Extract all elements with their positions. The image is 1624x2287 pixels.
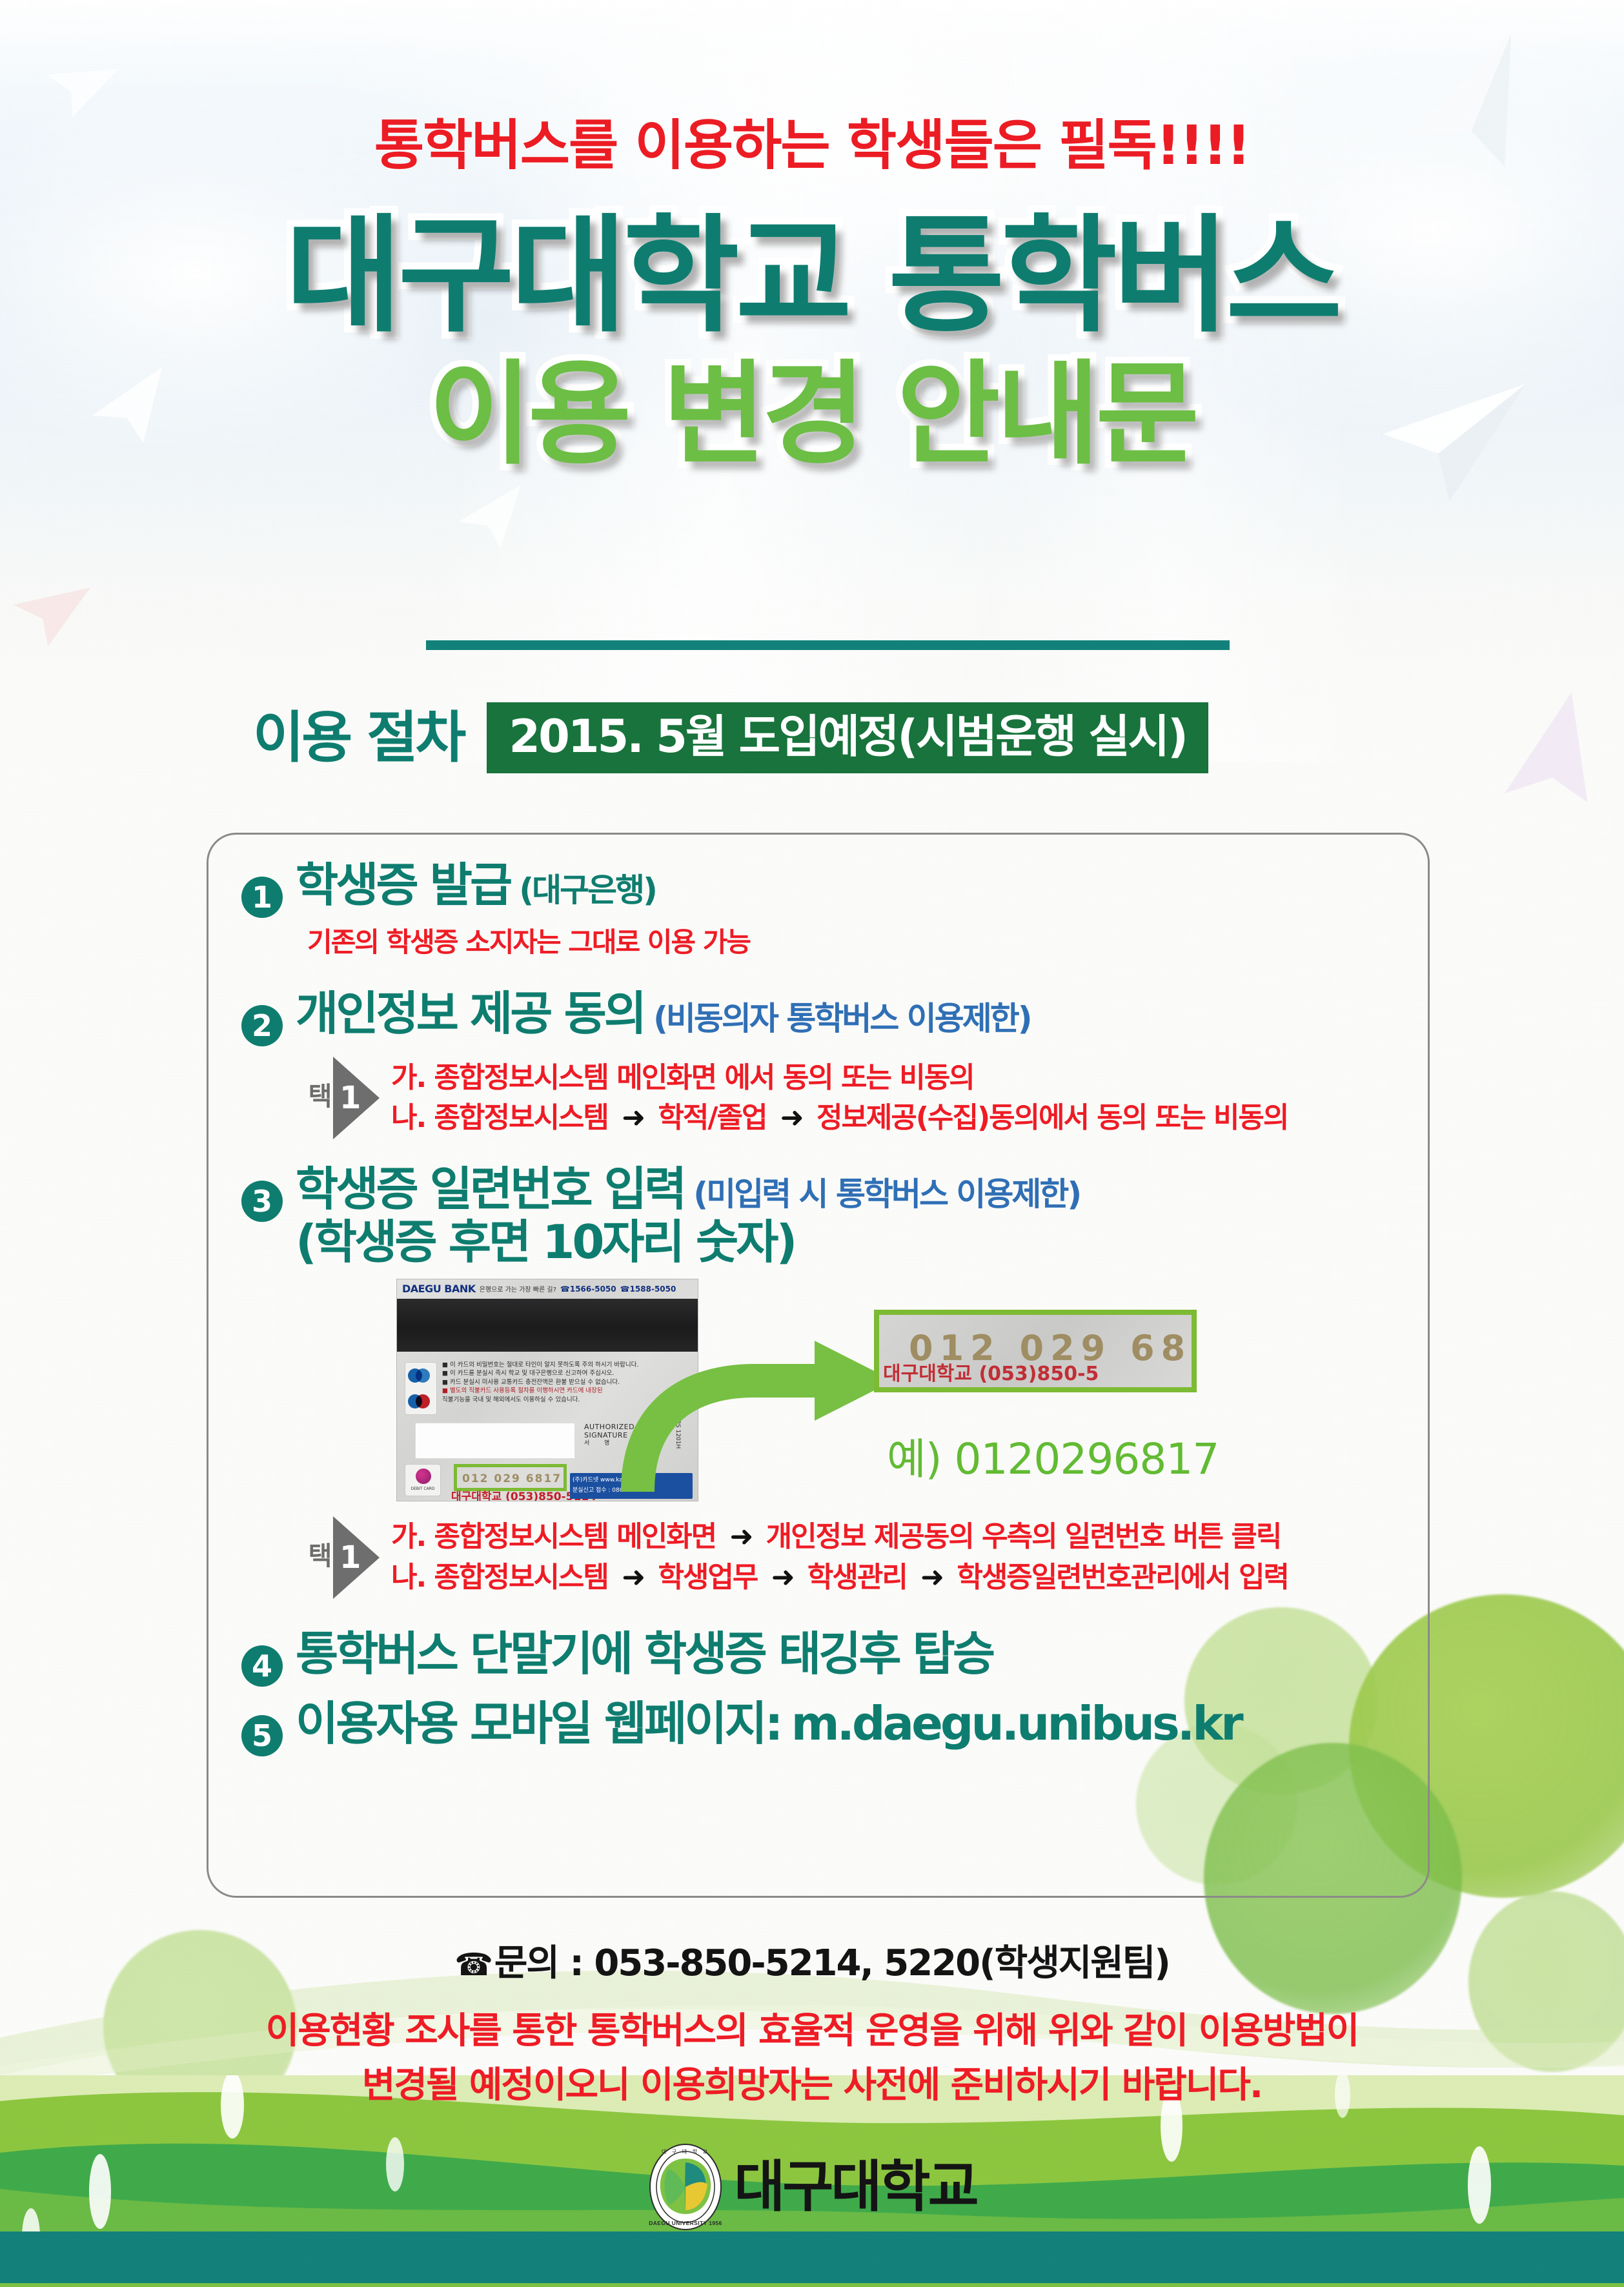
arrow-right-icon: ➜ bbox=[766, 1561, 799, 1594]
step-3-title-second-line: (학생증 후면 10자리 숫자) bbox=[296, 1218, 1395, 1267]
step-1: 1 학생증 발급 (대구은행) 기존의 학생증 소지자는 그대로 이용 가능 bbox=[241, 861, 1395, 960]
step-5-number: 5 bbox=[241, 1715, 283, 1756]
option-line: 나. 종합정보시스템 ➜ 학생업무 ➜ 학생관리 ➜ 학생증일련번호관리에서 입… bbox=[391, 1558, 1395, 1598]
option-prefix: 가. bbox=[391, 1520, 425, 1553]
cirrus-icon bbox=[408, 1366, 434, 1385]
notice-block: 이용현황 조사를 통한 통학버스의 효율적 운영을 위해 위와 같이 이용방법이… bbox=[0, 2004, 1624, 2113]
card-serial-number: 012 029 6817 bbox=[462, 1472, 562, 1485]
option-line: 가. 종합정보시스템 메인화면 ➜ 개인정보 제공동의 우측의 일련번호 버튼 … bbox=[391, 1517, 1395, 1557]
serial-example-text: 예) 0120296817 bbox=[887, 1425, 1219, 1487]
section-header: 이용 절차 2015. 5월 도입예정(시범운행 실시) bbox=[253, 702, 1208, 773]
option-part: 학생관리 bbox=[807, 1561, 907, 1594]
title-divider bbox=[426, 640, 1230, 650]
bank-brand: DAEGU BANK bbox=[402, 1283, 476, 1295]
arrow-right-icon: ➜ bbox=[915, 1561, 948, 1594]
option-part: 개인정보 제공동의 우측의 일련번호 버튼 클릭 bbox=[766, 1520, 1281, 1553]
contact-line: ☎문의 : 053-850-5214, 5220(학생지원팀) bbox=[0, 1934, 1624, 1986]
step-2-option-lines: 가. 종합정보시스템 메인화면 에서 동의 또는 비동의 나. 종합정보시스템 … bbox=[391, 1058, 1395, 1139]
step-1-subnote: 기존의 학생증 소지자는 그대로 이용 가능 bbox=[307, 920, 1395, 960]
kicker-text: 통학버스를 이용하는 학생들은 필독!!!! bbox=[0, 102, 1624, 180]
arrow-right-icon: ➜ bbox=[724, 1520, 757, 1553]
step-2: 2 개인정보 제공 동의 (비동의자 통학버스 이용제한) 택 1 가. 종합정… bbox=[241, 990, 1395, 1139]
step-5: 5 이용자용 모바일 웹페이지: m.daegu.unibus.kr bbox=[241, 1700, 1395, 1750]
step-3: 3 학생증 일련번호 입력 (미입력 시 통학버스 이용제한) (학생증 후면 … bbox=[241, 1165, 1395, 1599]
step-5-title: 이용자용 모바일 웹페이지: bbox=[296, 1700, 781, 1749]
mobile-webpage-url[interactable]: m.daegu.unibus.kr bbox=[791, 1700, 1241, 1749]
step-3-options: 택 1 가. 종합정보시스템 메인화면 ➜ 개인정보 제공동의 우측의 일련번호… bbox=[305, 1516, 1395, 1599]
option-part: 학적/졸업 bbox=[658, 1101, 766, 1134]
poster-root: 통학버스를 이용하는 학생들은 필독!!!! 대구대학교 통학버스 이용 변경 … bbox=[0, 0, 1624, 2287]
option-part: 종합정보시스템 메인화면 에서 동의 또는 비동의 bbox=[434, 1061, 974, 1094]
step-1-number: 1 bbox=[241, 877, 283, 918]
maestro-icon bbox=[408, 1392, 434, 1411]
option-prefix: 나. bbox=[391, 1101, 425, 1134]
steps-list: 1 학생증 발급 (대구은행) 기존의 학생증 소지자는 그대로 이용 가능 2… bbox=[207, 833, 1430, 1778]
svg-text:대 구 대 학 교: 대 구 대 학 교 bbox=[662, 2148, 709, 2155]
option-part: 종합정보시스템 bbox=[434, 1101, 608, 1134]
pick-one-marker: 택 1 bbox=[305, 1057, 382, 1139]
option-part: 정보제공(수집)동의에서 동의 또는 비동의 bbox=[817, 1101, 1288, 1134]
pick-label: 택 bbox=[305, 1542, 330, 1567]
arrow-right-icon: ➜ bbox=[616, 1101, 649, 1134]
step-5-head: 5 이용자용 모바일 웹페이지: m.daegu.unibus.kr bbox=[241, 1700, 1395, 1750]
pick-label: 택 bbox=[305, 1083, 330, 1107]
contact-text: 문의 : 053-850-5214, 5220(학생지원팀) bbox=[494, 1942, 1170, 1984]
debit-card-badge: DEBIT CARD bbox=[405, 1464, 441, 1496]
option-prefix: 나. bbox=[391, 1561, 425, 1594]
arrow-right-icon: ➜ bbox=[616, 1561, 649, 1594]
card-top-strip: DAEGU BANK 은행으로 가는 가장 빠른 길? ☎1566-5050 ☎… bbox=[397, 1279, 698, 1299]
bank-slogan: 은행으로 가는 가장 빠른 길? bbox=[480, 1284, 556, 1294]
step-3-option-lines: 가. 종합정보시스템 메인화면 ➜ 개인정보 제공동의 우측의 일련번호 버튼 … bbox=[391, 1517, 1395, 1598]
step-3-note: (미입력 시 통학버스 이용제한) bbox=[693, 1168, 1080, 1215]
step-2-title: 개인정보 제공 동의 bbox=[296, 990, 644, 1039]
step-4-head: 4 통학버스 단말기에 학생증 태깅후 탑승 bbox=[241, 1630, 1395, 1680]
option-part: 종합정보시스템 bbox=[434, 1561, 608, 1594]
arrow-right-icon: ➜ bbox=[775, 1101, 808, 1134]
footer-edge bbox=[0, 2283, 1624, 2287]
title-line-1: 대구대학교 통학버스 bbox=[0, 213, 1624, 340]
notice-line-1: 이용현황 조사를 통한 통학버스의 효율적 운영을 위해 위와 같이 이용방법이 bbox=[0, 2004, 1624, 2058]
step-1-head: 1 학생증 발급 (대구은행) bbox=[241, 861, 1395, 911]
option-part: 학생업무 bbox=[658, 1561, 757, 1594]
bank-tel-1: ☎1566-5050 bbox=[560, 1285, 616, 1294]
step-3-head: 3 학생증 일련번호 입력 (미입력 시 통학버스 이용제한) bbox=[241, 1165, 1395, 1215]
pick-count: 1 bbox=[340, 1542, 361, 1573]
step-3-title: 학생증 일련번호 입력 bbox=[296, 1165, 684, 1214]
phone-icon: ☎ bbox=[454, 1947, 492, 1983]
step-1-note: (대구은행) bbox=[519, 864, 656, 911]
notice-line-2: 변경될 예정이오니 이용희망자는 사전에 준비하시기 바랍니다. bbox=[0, 2058, 1624, 2113]
university-logo-row: DAEGU UNIVERSITY 1956 대 구 대 학 교 대구대학교 bbox=[0, 2142, 1624, 2232]
bank-tel-2: ☎1588-5050 bbox=[620, 1285, 676, 1294]
option-line: 가. 종합정보시스템 메인화면 에서 동의 또는 비동의 bbox=[391, 1058, 1395, 1098]
option-line: 나. 종합정보시스템 ➜ 학적/졸업 ➜ 정보제공(수집)동의에서 동의 또는 … bbox=[391, 1098, 1395, 1138]
step-1-title: 학생증 발급 bbox=[296, 861, 510, 910]
pick-count: 1 bbox=[340, 1083, 361, 1113]
title-line-2: 이용 변경 안내문 bbox=[0, 359, 1624, 471]
university-name: 대구대학교 bbox=[734, 2159, 977, 2215]
daegu-university-emblem-icon: DAEGU UNIVERSITY 1956 대 구 대 학 교 bbox=[647, 2142, 724, 2232]
card-network-logos bbox=[405, 1362, 437, 1415]
step-2-number: 2 bbox=[241, 1005, 283, 1046]
pick-one-marker: 택 1 bbox=[305, 1516, 382, 1599]
step-4-title: 통학버스 단말기에 학생증 태깅후 탑승 bbox=[296, 1630, 993, 1679]
step-2-options: 택 1 가. 종합정보시스템 메인화면 에서 동의 또는 비동의 나. 종합정보… bbox=[305, 1057, 1395, 1139]
option-part: 학생증일련번호관리에서 입력 bbox=[957, 1561, 1288, 1594]
curved-arrow-icon bbox=[609, 1305, 906, 1498]
date-badge: 2015. 5월 도입예정(시범운행 실시) bbox=[487, 702, 1208, 773]
step-2-note: (비동의자 통학버스 이용제한) bbox=[653, 993, 1031, 1039]
student-card-illustration: DAEGU BANK 은행으로 가는 가장 빠른 길? ☎1566-5050 ☎… bbox=[396, 1279, 1365, 1511]
option-part: 종합정보시스템 메인화면 bbox=[434, 1520, 716, 1553]
footer-bar bbox=[0, 2231, 1624, 2287]
step-2-head: 2 개인정보 제공 동의 (비동의자 통학버스 이용제한) bbox=[241, 990, 1395, 1040]
step-4-number: 4 bbox=[241, 1645, 283, 1687]
serial-zoom-box: 012 029 6817 대구대학교 (053)850-5 bbox=[874, 1310, 1197, 1392]
svg-text:DAEGU UNIVERSITY 1956: DAEGU UNIVERSITY 1956 bbox=[649, 2220, 722, 2226]
option-prefix: 가. bbox=[391, 1061, 425, 1094]
zoomed-under-text: 대구대학교 (053)850-5 bbox=[883, 1357, 1099, 1386]
signature-panel bbox=[415, 1423, 575, 1459]
section-title: 이용 절차 bbox=[253, 710, 463, 766]
step-3-number: 3 bbox=[241, 1181, 283, 1222]
step-4: 4 통학버스 단말기에 학생증 태깅후 탑승 bbox=[241, 1630, 1395, 1680]
poster-title: 대구대학교 통학버스 이용 변경 안내문 bbox=[0, 213, 1624, 471]
